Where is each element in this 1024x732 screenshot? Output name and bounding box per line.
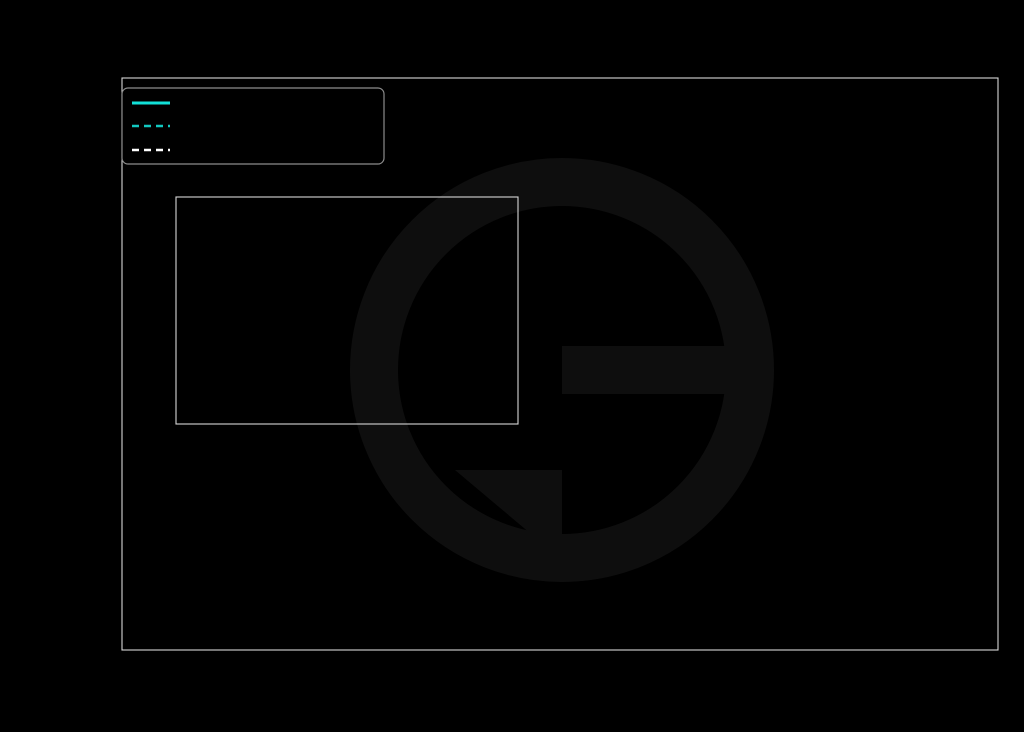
bitcoin-decay-chart-figure bbox=[0, 0, 1024, 732]
legend-box bbox=[122, 88, 384, 164]
